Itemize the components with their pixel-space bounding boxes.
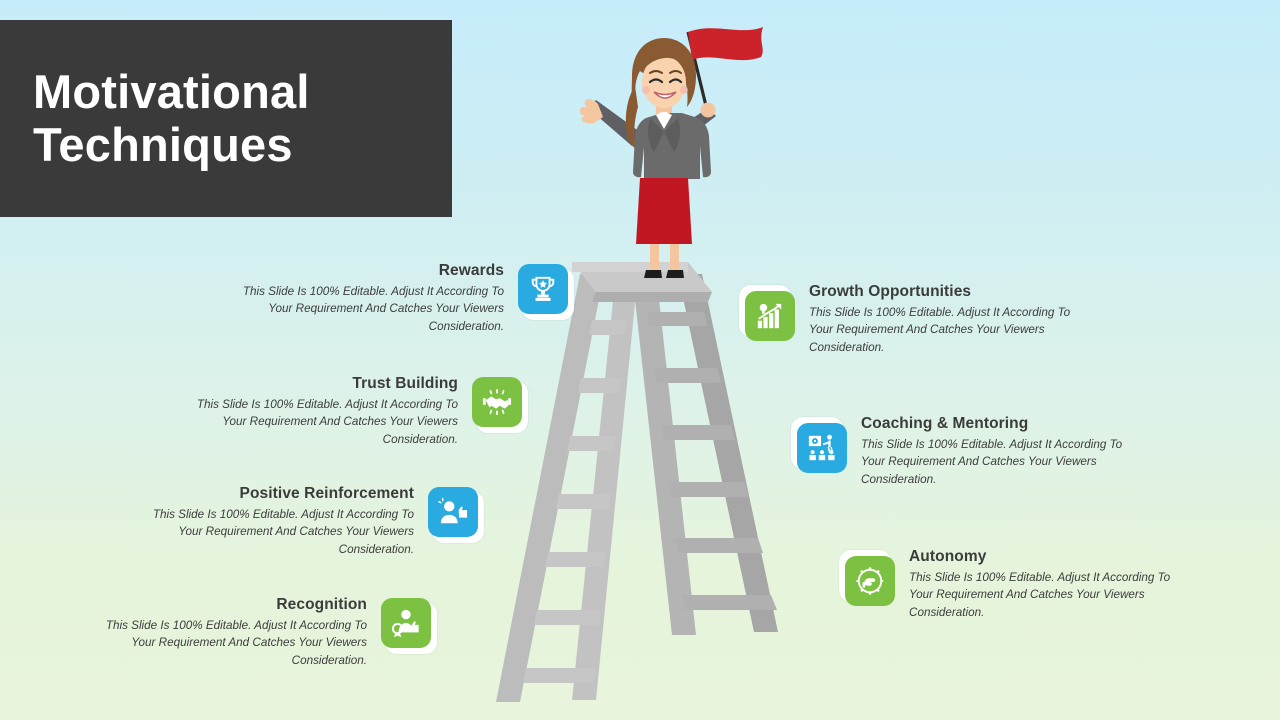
icon-tile-trust-building[interactable] xyxy=(472,377,528,433)
item-heading: Growth Opportunities xyxy=(809,283,971,301)
item-text-growth-opportunities: Growth Opportunities This Slide Is 100% … xyxy=(795,283,1095,356)
trophy-icon xyxy=(528,274,558,304)
tile-face xyxy=(472,377,522,427)
icon-tile-recognition[interactable] xyxy=(381,598,437,654)
item-heading: Positive Reinforcement xyxy=(240,485,414,503)
growth-chart-icon xyxy=(755,301,785,331)
item-recognition[interactable]: Recognition This Slide Is 100% Editable.… xyxy=(81,596,437,669)
handshake-icon xyxy=(482,387,512,417)
item-body: This Slide Is 100% Editable. Adjust It A… xyxy=(128,506,414,558)
item-heading: Recognition xyxy=(276,596,367,614)
item-body: This Slide Is 100% Editable. Adjust It A… xyxy=(909,569,1195,621)
tile-face xyxy=(745,291,795,341)
icon-tile-autonomy[interactable] xyxy=(839,550,895,606)
training-presentation-icon xyxy=(807,433,837,463)
item-body: This Slide Is 100% Editable. Adjust It A… xyxy=(809,304,1095,356)
tile-face xyxy=(428,487,478,537)
item-text-rewards: Rewards This Slide Is 100% Editable. Adj… xyxy=(218,262,518,335)
item-body: This Slide Is 100% Editable. Adjust It A… xyxy=(861,436,1147,488)
businesswoman-illustration xyxy=(580,20,780,290)
item-positive-reinforcement[interactable]: Positive Reinforcement This Slide Is 100… xyxy=(128,485,484,558)
page-title: Motivational Techniques xyxy=(0,66,310,171)
item-heading: Rewards xyxy=(439,262,504,280)
tile-face xyxy=(845,556,895,606)
fist-gears-icon xyxy=(855,566,885,596)
title-line-2: Techniques xyxy=(33,119,310,172)
item-growth-opportunities[interactable]: Growth Opportunities This Slide Is 100% … xyxy=(739,283,1095,356)
item-text-positive-reinforcement: Positive Reinforcement This Slide Is 100… xyxy=(128,485,428,558)
item-heading: Autonomy xyxy=(909,548,986,566)
tile-face xyxy=(381,598,431,648)
item-body: This Slide Is 100% Editable. Adjust It A… xyxy=(172,396,458,448)
tile-face xyxy=(797,423,847,473)
item-trust-building[interactable]: Trust Building This Slide Is 100% Editab… xyxy=(172,375,528,448)
icon-tile-coaching-mentoring[interactable] xyxy=(791,417,847,473)
ladder-left-side xyxy=(496,272,638,702)
item-text-autonomy: Autonomy This Slide Is 100% Editable. Ad… xyxy=(895,548,1195,621)
icon-tile-rewards[interactable] xyxy=(518,264,574,320)
item-rewards[interactable]: Rewards This Slide Is 100% Editable. Adj… xyxy=(218,262,574,335)
title-line-1: Motivational xyxy=(33,66,310,119)
item-text-trust-building: Trust Building This Slide Is 100% Editab… xyxy=(172,375,472,448)
tile-face xyxy=(518,264,568,314)
item-heading: Coaching & Mentoring xyxy=(861,415,1028,433)
icon-tile-positive-reinforcement[interactable] xyxy=(428,487,484,543)
thumbs-up-person-icon xyxy=(438,497,468,527)
item-text-coaching-mentoring: Coaching & Mentoring This Slide Is 100% … xyxy=(847,415,1147,488)
red-flag xyxy=(688,27,763,60)
item-autonomy[interactable]: Autonomy This Slide Is 100% Editable. Ad… xyxy=(839,548,1195,621)
item-heading: Trust Building xyxy=(352,375,458,393)
slide-canvas: Motivational Techniques xyxy=(0,0,1280,720)
item-body: This Slide Is 100% Editable. Adjust It A… xyxy=(218,283,504,335)
item-body: This Slide Is 100% Editable. Adjust It A… xyxy=(81,617,367,669)
title-box: Motivational Techniques xyxy=(0,20,452,217)
award-thumbs-up-icon xyxy=(391,608,421,638)
item-text-recognition: Recognition This Slide Is 100% Editable.… xyxy=(81,596,381,669)
item-coaching-mentoring[interactable]: Coaching & Mentoring This Slide Is 100% … xyxy=(791,415,1147,488)
icon-tile-growth-opportunities[interactable] xyxy=(739,285,795,341)
